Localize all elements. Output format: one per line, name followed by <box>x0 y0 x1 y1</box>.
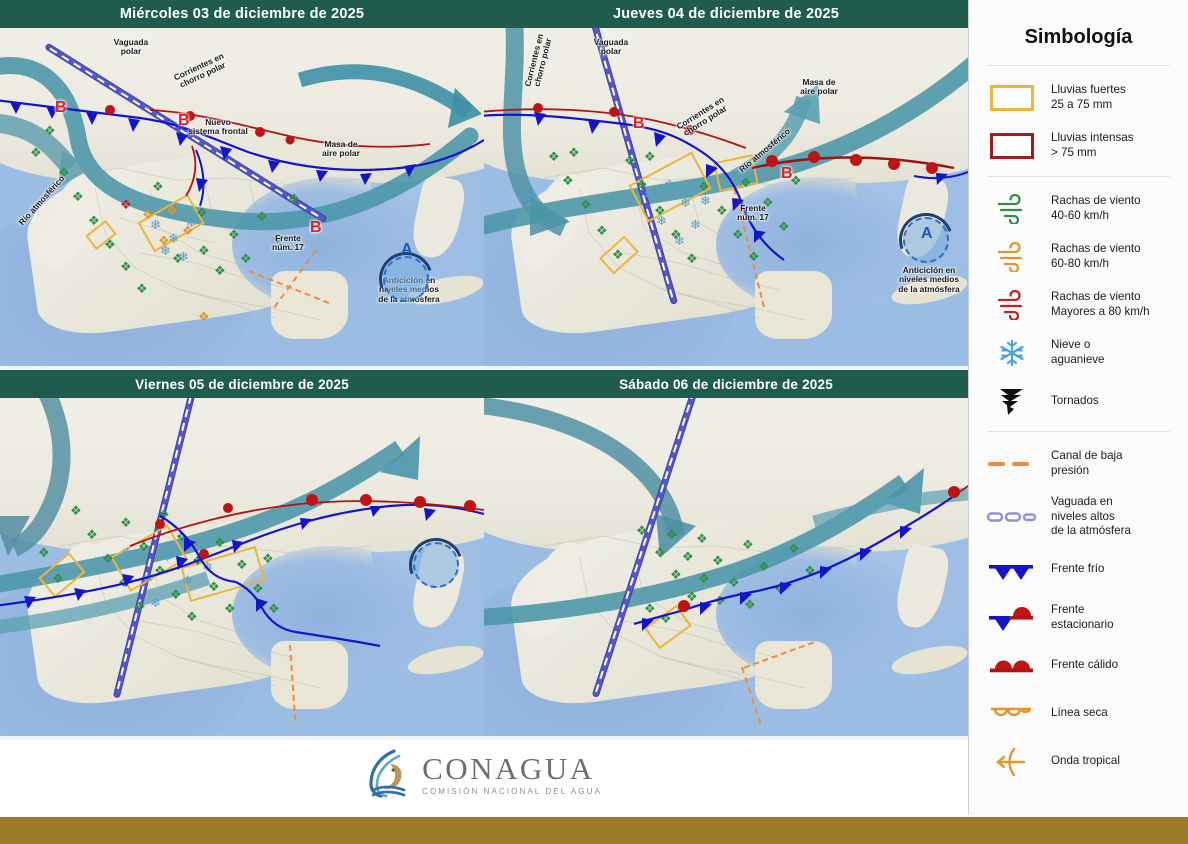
legend-label: Frente frío <box>1051 562 1104 577</box>
front-lines-miercoles <box>0 28 484 366</box>
legend-label: Frente estacionario <box>1051 603 1114 632</box>
tornado-icon <box>983 384 1041 418</box>
legend-item-lluvias-intensas[interactable]: Lluvias intensas > 75 mm <box>969 122 1188 170</box>
legend-item-vaguada-niveles-altos[interactable]: Vaguada en niveles altos de la atmósfera <box>969 488 1188 546</box>
wind-gust-green-icon <box>983 192 1041 226</box>
logo-tagline: COMISIÓN NACIONAL DEL AGUA <box>422 787 602 796</box>
wind-gust-red-icon <box>983 288 1041 322</box>
low-pressure-channel-icon <box>983 447 1041 481</box>
low-pressure-b-marker: B <box>178 113 190 129</box>
low-pressure-b-marker: B <box>633 116 645 132</box>
forecast-panel-sabado[interactable]: Sábado 06 de diciembre de 2025 <box>484 370 968 736</box>
dry-line-icon <box>983 697 1041 731</box>
bottom-gold-bar <box>0 817 1188 844</box>
legend-item-nieve[interactable]: Nieve o aguanieve <box>969 329 1188 377</box>
wind-gust-orange-icon <box>983 240 1041 274</box>
front-lines-jueves <box>484 28 968 366</box>
high-pressure-a-marker: A <box>921 226 933 242</box>
rain-moderate-box-icon <box>983 81 1041 115</box>
legend-label: Nieve o aguanieve <box>1051 338 1105 367</box>
panel-title-miercoles: Miércoles 03 de diciembre de 2025 <box>0 0 484 28</box>
legend-label: Lluvias fuertes 25 a 75 mm <box>1051 83 1126 112</box>
anticyclone-symbol-miercoles <box>383 256 429 302</box>
legend-item-canal-baja-presion[interactable]: Canal de baja presión <box>969 440 1188 488</box>
legend-label: Vaguada en niveles altos de la atmósfera <box>1051 495 1131 539</box>
tropical-wave-icon <box>983 745 1041 779</box>
panel-title-jueves: Jueves 04 de diciembre de 2025 <box>484 0 968 28</box>
legend-item-frente-frio[interactable]: Frente frío <box>969 546 1188 594</box>
forecast-panel-miercoles[interactable]: Miércoles 03 de diciembre de 2025 <box>0 0 484 366</box>
legend-item-frente-calido[interactable]: Frente cálido <box>969 642 1188 690</box>
legend-label: Tornados <box>1051 394 1099 409</box>
legend-item-rachas-mayores-80[interactable]: Rachas de viento Mayores a 80 km/h <box>969 281 1188 329</box>
conagua-emblem-icon <box>366 748 412 800</box>
legend-item-rachas-40-60[interactable]: Rachas de viento 40-60 km/h <box>969 185 1188 233</box>
legend-divider <box>987 431 1170 432</box>
conagua-logo: CONAGUA COMISIÓN NACIONAL DEL AGUA <box>366 748 602 800</box>
forecast-panel-viernes[interactable]: Viernes 05 de diciembre de 2025 <box>0 370 484 736</box>
legend-label: Frente cálido <box>1051 658 1118 673</box>
upper-level-trough-icon <box>983 500 1041 534</box>
map-canvas-miercoles: ❖ ❖ ❖ ❖ ❖ ❖ ❖ ❖ ❖ ❖ ❖ ❖ ❖ ❖ ❖ ❖ ❖ <box>0 28 484 366</box>
stationary-front-icon <box>983 601 1041 635</box>
legend-item-linea-seca[interactable]: Línea seca <box>969 690 1188 738</box>
logo-wordmark: CONAGUA <box>422 753 602 784</box>
legend-label: Onda tropical <box>1051 754 1120 769</box>
low-pressure-b-marker: B <box>310 220 322 236</box>
legend-label: Rachas de viento Mayores a 80 km/h <box>1051 290 1150 319</box>
legend-item-lluvias-fuertes[interactable]: Lluvias fuertes 25 a 75 mm <box>969 74 1188 122</box>
snowflake-icon <box>983 336 1041 370</box>
map-canvas-sabado: ❖ ❖ ❖ ❖ ❖ ❖ ❖ ❖ ❖ ❖ ❖ ❖ ❖ ❖ ❖ ❖ ❖ <box>484 396 968 736</box>
legend-item-frente-estacionario[interactable]: Frente estacionario <box>969 594 1188 642</box>
low-pressure-b-marker: B <box>55 100 67 116</box>
legend-item-rachas-60-80[interactable]: Rachas de viento 60-80 km/h <box>969 233 1188 281</box>
footer-logo-area: CONAGUA COMISIÓN NACIONAL DEL AGUA <box>0 740 968 815</box>
anticyclone-symbol-viernes <box>413 542 459 588</box>
legend-item-onda-tropical[interactable]: Onda tropical <box>969 738 1188 786</box>
legend-divider <box>987 176 1170 177</box>
panel-title-sabado: Sábado 06 de diciembre de 2025 <box>484 370 968 398</box>
warm-front-icon <box>983 649 1041 683</box>
legend-label: Línea seca <box>1051 706 1108 721</box>
legend-label: Lluvias intensas > 75 mm <box>1051 131 1134 160</box>
front-lines-sabado <box>484 396 968 736</box>
legend-divider <box>987 65 1170 66</box>
cold-front-icon <box>983 553 1041 587</box>
panel-title-viernes: Viernes 05 de diciembre de 2025 <box>0 370 484 398</box>
legend-label: Canal de baja presión <box>1051 449 1123 478</box>
map-canvas-jueves: ❖ ❖ ❖ ❖ ❖ ❖ ❖ ❖ ❖ ❖ ❖ ❖ ❖ ❖ ❖ ❖ ❖ <box>484 28 968 366</box>
low-pressure-b-marker: B <box>781 166 793 182</box>
legend-panel: Simbología Lluvias fuertes 25 a 75 mm Ll… <box>968 0 1188 815</box>
legend-label: Rachas de viento 60-80 km/h <box>1051 242 1141 271</box>
high-pressure-a-marker: A <box>401 242 413 258</box>
forecast-map-grid: Miércoles 03 de diciembre de 2025 <box>0 0 968 740</box>
legend-item-tornados[interactable]: Tornados <box>969 377 1188 425</box>
legend-label: Rachas de viento 40-60 km/h <box>1051 194 1141 223</box>
forecast-panel-jueves[interactable]: Jueves 04 de diciembre de 2025 <box>484 0 968 366</box>
legend-title: Simbología <box>969 0 1188 59</box>
map-canvas-viernes: ❖ ❖ ❖ ❖ ❖ ❖ ❖ ❖ ❖ ❖ ❖ ❖ ❖ ❖ ❖ ❖ ❖ <box>0 396 484 736</box>
rain-intense-box-icon <box>983 129 1041 163</box>
